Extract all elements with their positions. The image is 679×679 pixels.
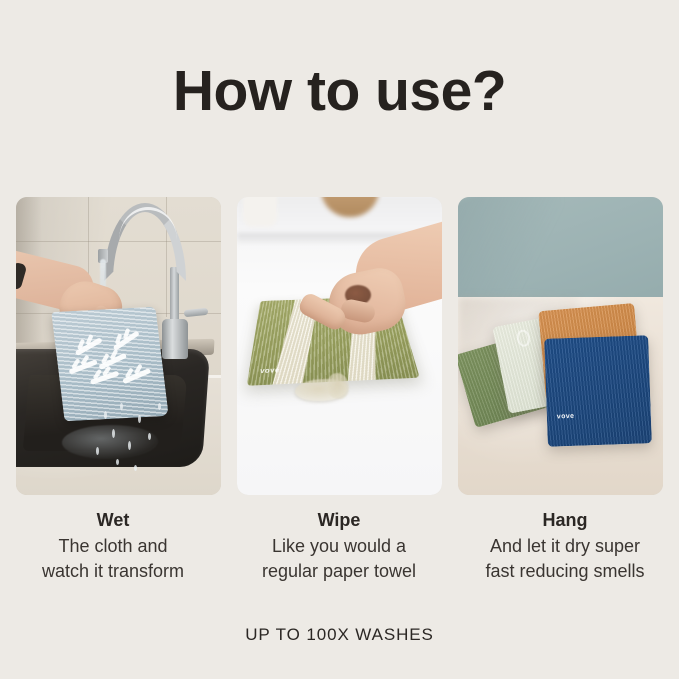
hang-hole-icon bbox=[515, 329, 531, 348]
brand-logo: vove bbox=[557, 413, 575, 421]
water-droplet bbox=[158, 403, 161, 410]
step-body-line2-wet: watch it transform bbox=[0, 559, 226, 585]
water-droplet bbox=[148, 433, 151, 440]
step-caption-wipe: Wipe Like you would a regular paper towe… bbox=[226, 508, 452, 585]
leaf-sprig-icon bbox=[113, 330, 140, 350]
step-image-wet bbox=[16, 197, 221, 495]
water-droplet bbox=[120, 403, 123, 410]
step-image-row: vove vove vove bbox=[16, 197, 663, 495]
step-body-line2-wipe: regular paper towel bbox=[226, 559, 452, 585]
step-body-line1-wet: The cloth and bbox=[0, 534, 226, 560]
how-to-use-infographic: How to use? bbox=[0, 0, 679, 679]
water-droplet bbox=[128, 441, 131, 450]
step-caption-hang: Hang And let it dry super fast reducing … bbox=[452, 508, 678, 585]
step-title-wet: Wet bbox=[0, 508, 226, 534]
liquid-spill bbox=[327, 373, 349, 399]
step-body-line2-hang: fast reducing smells bbox=[452, 559, 678, 585]
brand-logo: vove bbox=[260, 367, 280, 375]
cloth-wet bbox=[51, 307, 169, 422]
page-title: How to use? bbox=[0, 62, 679, 122]
leaf-sprig-icon bbox=[98, 353, 127, 370]
water-droplet bbox=[134, 465, 137, 471]
water-droplet bbox=[96, 447, 99, 455]
step-caption-wet: Wet The cloth and watch it transform bbox=[0, 508, 226, 585]
leaf-sprig-icon bbox=[122, 368, 151, 384]
water-droplet bbox=[138, 415, 141, 423]
step-image-wipe: vove bbox=[237, 197, 442, 495]
faucet-base bbox=[162, 319, 188, 359]
leaf-sprig-icon bbox=[68, 359, 98, 374]
water-droplet bbox=[116, 459, 119, 465]
step-body-line1-wipe: Like you would a bbox=[226, 534, 452, 560]
step-title-hang: Hang bbox=[452, 508, 678, 534]
cloth-navy: vove bbox=[544, 335, 652, 447]
step-caption-row: Wet The cloth and watch it transform Wip… bbox=[0, 508, 679, 585]
step-title-wipe: Wipe bbox=[226, 508, 452, 534]
water-droplet bbox=[112, 429, 115, 438]
leaf-sprig-icon bbox=[90, 371, 120, 385]
step-body-line1-hang: And let it dry super bbox=[452, 534, 678, 560]
footer-claim: UP TO 100X WASHES bbox=[0, 625, 679, 645]
leaf-sprig-icon bbox=[75, 337, 103, 356]
water-droplet bbox=[104, 411, 107, 419]
blurred-jar bbox=[243, 197, 277, 227]
step-image-hang: vove vove bbox=[458, 197, 663, 495]
